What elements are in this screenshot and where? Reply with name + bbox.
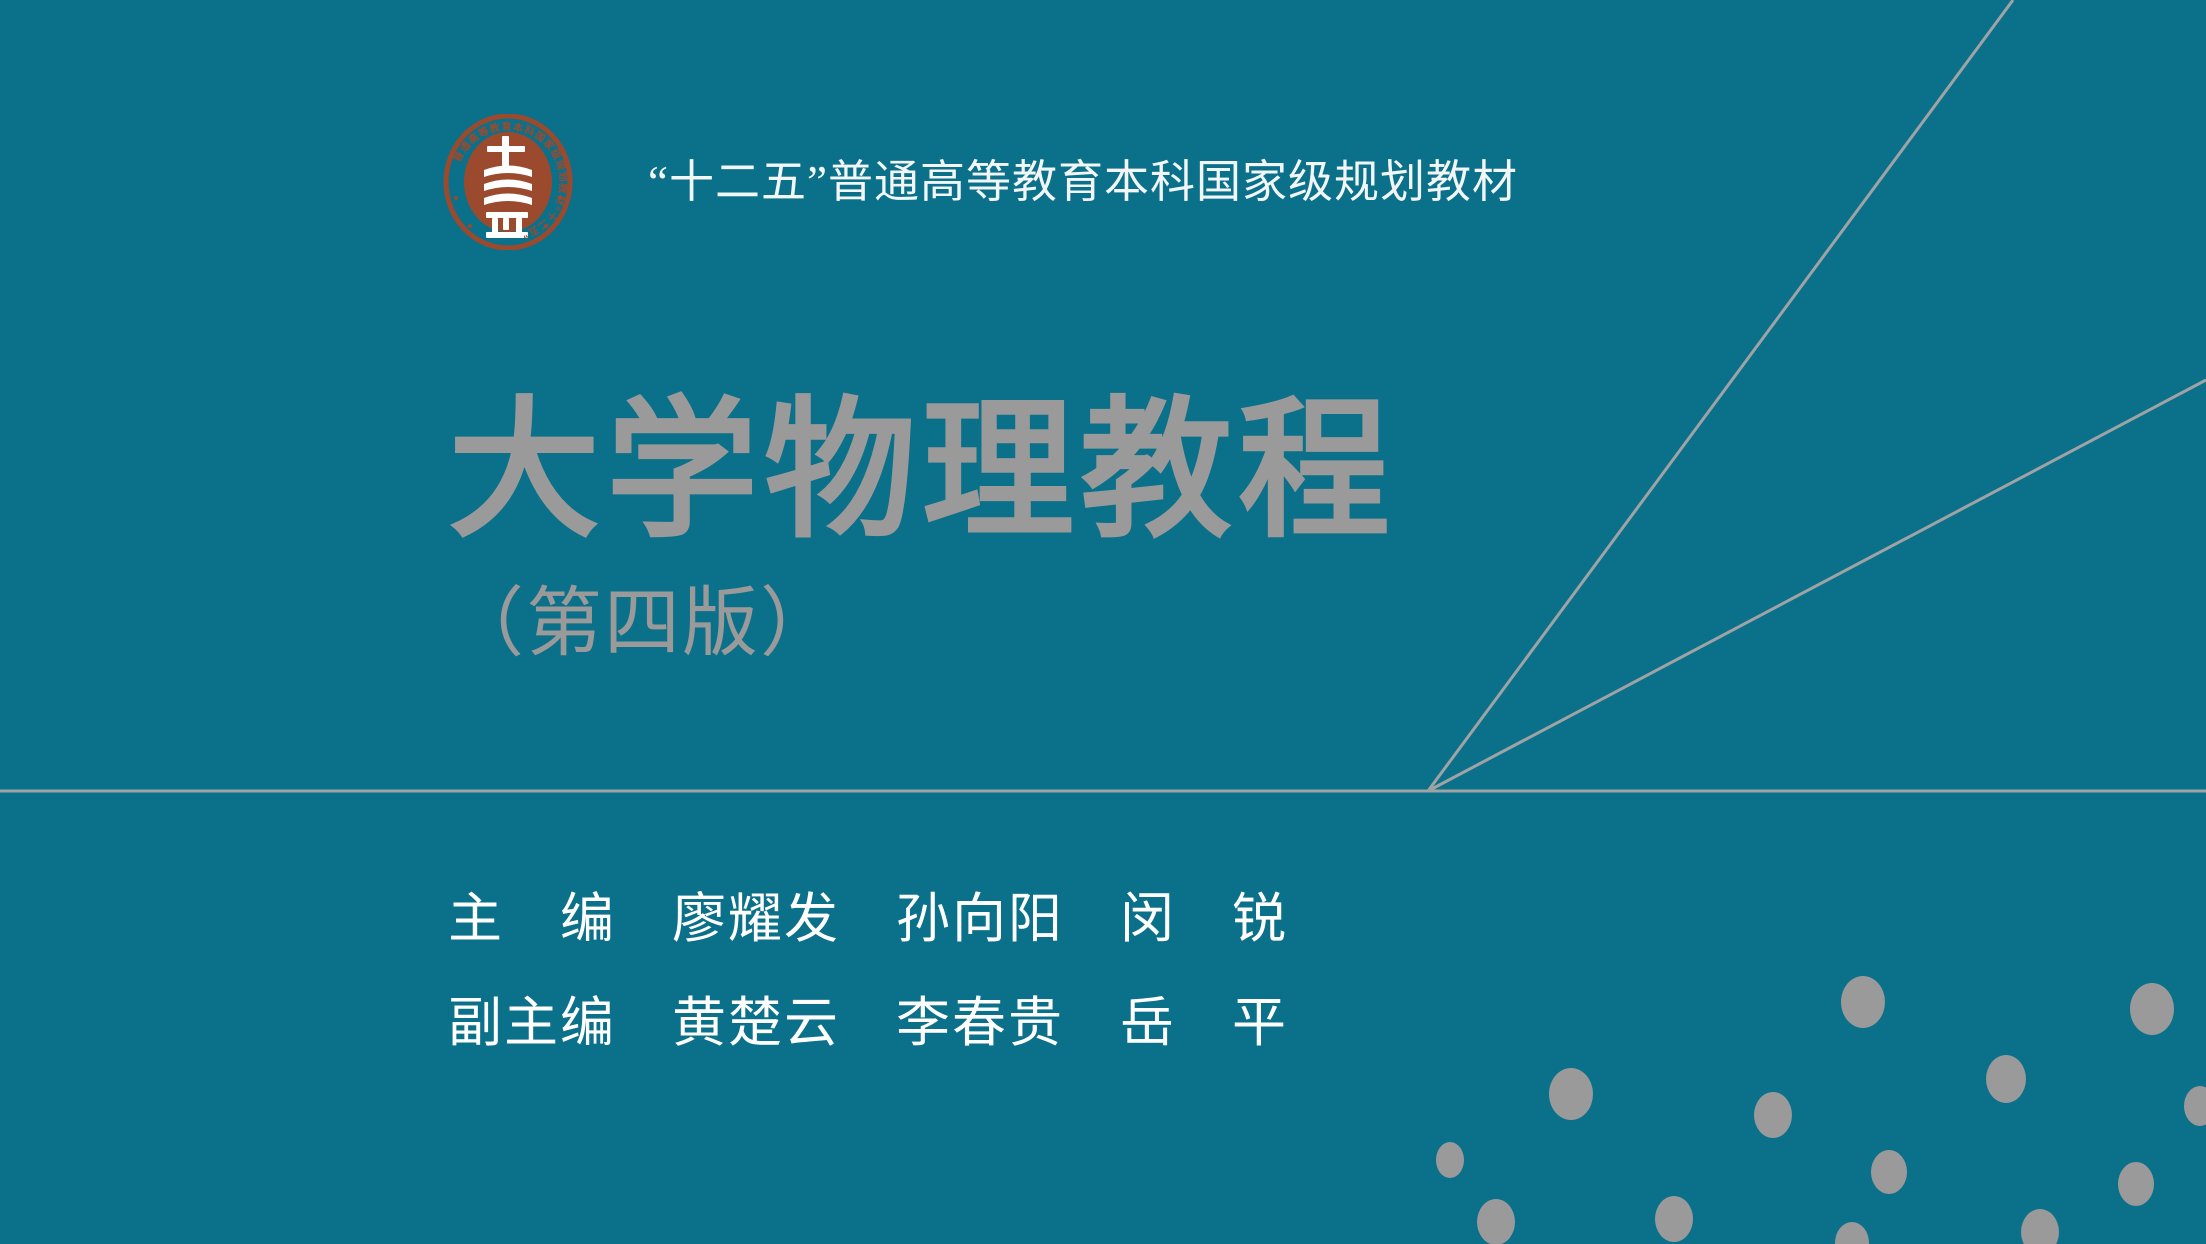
title-block: 大学物理教程 （第四版） xyxy=(448,392,1548,667)
chief-editor-line: 主 编 廖耀发 孙向阳 闵 锐 xyxy=(448,892,1648,946)
author-credits: 主 编 廖耀发 孙向阳 闵 锐 副主编 黄楚云 李春贵 岳 平 xyxy=(448,892,1648,1050)
national-planning-textbook-seal: 普通高等教育本科国家级规划教材“十二五” xyxy=(440,114,576,250)
dot xyxy=(1835,1222,1869,1244)
dot xyxy=(2021,1209,2059,1244)
dot xyxy=(1655,1196,1693,1242)
edition-label: （第四版） xyxy=(448,583,1548,667)
dot xyxy=(1986,1055,2026,1103)
dot xyxy=(1871,1150,1907,1194)
dot xyxy=(1436,1142,1464,1178)
dot xyxy=(1549,1068,1593,1120)
dot xyxy=(2184,1086,2206,1126)
page-title: 大学物理教程 xyxy=(448,392,1548,553)
dot xyxy=(2130,983,2174,1035)
dot xyxy=(1477,1199,1515,1244)
series-designation-text: “十二五”普通高等教育本科国家级规划教材 xyxy=(648,158,1518,208)
dot xyxy=(1754,1092,1792,1138)
associate-editor-line: 副主编 黄楚云 李春贵 岳 平 xyxy=(448,996,1648,1050)
dot xyxy=(2118,1162,2154,1206)
dot xyxy=(1841,976,1885,1028)
book-cover-page: 普通高等教育本科国家级规划教材“十二五” “十二五”普通高等教育本科国家级规划教… xyxy=(0,0,2206,1244)
